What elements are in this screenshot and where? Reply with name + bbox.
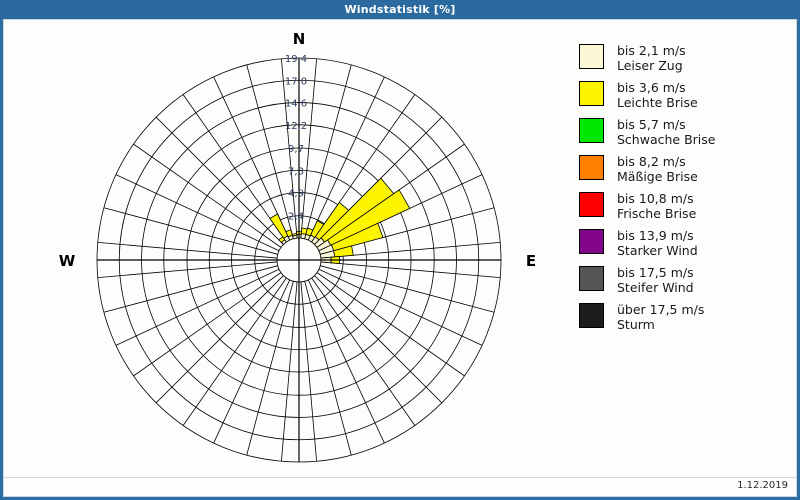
legend-name: Mäßige Brise [617,169,698,184]
legend-speed: bis 8,2 m/s [617,154,698,169]
legend-color-swatch [579,155,604,180]
legend-item[interactable]: bis 13,9 m/sStarker Wind [579,228,789,258]
radial-tick-label: 14,6 [285,99,307,110]
legend-speed: über 17,5 m/s [617,302,704,317]
legend-label: bis 10,8 m/sFrische Brise [617,191,696,221]
legend-name: Leichte Brise [617,95,698,110]
radial-tick-label: 19,4 [285,54,307,65]
compass-label-west: W [59,252,76,270]
chart-canvas: 2,44,97,39,712,214,617,019,4 NSWE bis 2,… [3,19,797,478]
legend-item[interactable]: bis 3,6 m/sLeichte Brise [579,80,789,110]
legend-label: bis 13,9 m/sStarker Wind [617,228,698,258]
radial-tick-label: 9,7 [288,144,304,155]
legend-speed: bis 10,8 m/s [617,191,696,206]
radial-tick-label: 12,2 [285,121,307,132]
legend-label: bis 2,1 m/sLeiser Zug [617,43,686,73]
legend-speed: bis 17,5 m/s [617,265,694,280]
legend-name: Starker Wind [617,243,698,258]
legend-label: über 17,5 m/sSturm [617,302,704,332]
legend-speed: bis 3,6 m/s [617,80,698,95]
radial-tick-label: 2,4 [288,212,304,223]
window-title: Windstatistik [%] [344,3,455,16]
status-bar: 1.12.2019 [3,478,797,497]
legend: bis 2,1 m/sLeiser Zugbis 3,6 m/sLeichte … [579,43,789,339]
legend-speed: bis 5,7 m/s [617,117,715,132]
legend-name: Frische Brise [617,206,696,221]
legend-speed: bis 13,9 m/s [617,228,698,243]
radial-tick-label: 4,9 [288,189,304,200]
legend-item[interactable]: bis 10,8 m/sFrische Brise [579,191,789,221]
window-titlebar: Windstatistik [%] [0,0,800,19]
legend-label: bis 5,7 m/sSchwache Brise [617,117,715,147]
legend-color-swatch [579,229,604,254]
radial-tick-label: 7,3 [288,166,304,177]
legend-color-swatch [579,44,604,69]
legend-color-swatch [579,118,604,143]
date-label: 1.12.2019 [737,480,788,491]
legend-label: bis 3,6 m/sLeichte Brise [617,80,698,110]
legend-item[interactable]: bis 8,2 m/sMäßige Brise [579,154,789,184]
legend-speed: bis 2,1 m/s [617,43,686,58]
legend-name: Leiser Zug [617,58,686,73]
legend-color-swatch [579,266,604,291]
legend-label: bis 8,2 m/sMäßige Brise [617,154,698,184]
compass-label-north: N [293,30,306,48]
legend-name: Steifer Wind [617,280,694,295]
legend-color-swatch [579,192,604,217]
radial-tick-label: 17,0 [285,76,307,87]
legend-item[interactable]: bis 5,7 m/sSchwache Brise [579,117,789,147]
legend-name: Sturm [617,317,704,332]
legend-item[interactable]: bis 17,5 m/sSteifer Wind [579,265,789,295]
compass-label-east: E [526,252,536,270]
legend-item[interactable]: über 17,5 m/sSturm [579,302,789,332]
legend-color-swatch [579,303,604,328]
compass-labels: NSWE [59,30,536,478]
legend-label: bis 17,5 m/sSteifer Wind [617,265,694,295]
wind-statistics-window: Windstatistik [%] 2,44,97,39,712,214,617… [0,0,800,500]
legend-item[interactable]: bis 2,1 m/sLeiser Zug [579,43,789,73]
wind-petal [292,233,297,236]
legend-color-swatch [579,81,604,106]
legend-name: Schwache Brise [617,132,715,147]
